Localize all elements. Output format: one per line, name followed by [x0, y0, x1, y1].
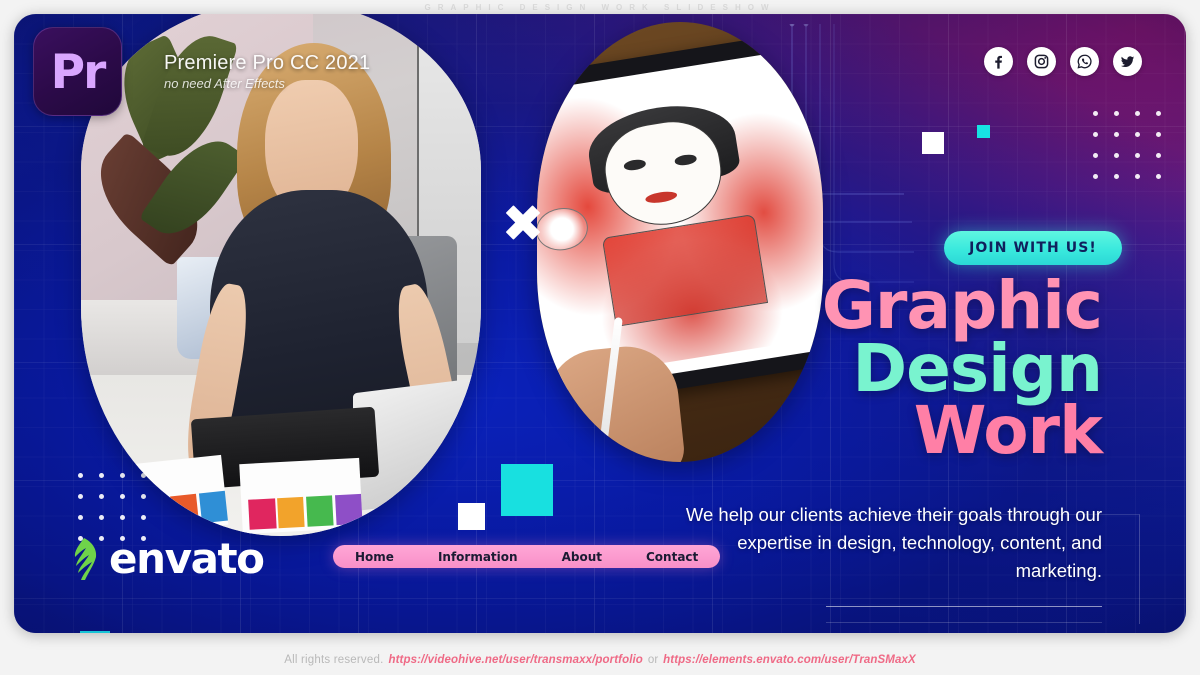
envato-leaf-icon	[66, 537, 102, 581]
underline-decoration-secondary	[826, 622, 1102, 623]
page-title: Graphic Design Work	[822, 276, 1102, 462]
cross-decoration-icon	[505, 204, 541, 240]
headline-line-3: Work	[822, 401, 1102, 462]
premiere-pro-subtitle: no need After Effects	[164, 76, 370, 91]
nav-item-contact[interactable]: Contact	[646, 550, 698, 564]
underline-decoration	[826, 606, 1102, 607]
whatsapp-icon[interactable]	[1070, 47, 1099, 76]
premiere-pro-caption: Premiere Pro CC 2021 no need After Effec…	[164, 52, 370, 91]
nav-item-about[interactable]: About	[562, 550, 602, 564]
photo-tablet-illustration	[537, 22, 823, 462]
square-decoration-cyan-top	[977, 125, 990, 138]
facebook-icon[interactable]	[984, 47, 1013, 76]
join-with-us-label: JOIN WITH US!	[969, 240, 1097, 256]
premiere-pro-badge-icon: Pr	[33, 27, 122, 116]
premiere-pro-title: Premiere Pro CC 2021	[164, 52, 370, 75]
square-decoration-white-top	[922, 132, 944, 154]
headline-line-1: Graphic	[822, 276, 1102, 337]
twitter-icon[interactable]	[1113, 47, 1142, 76]
description-paragraph: We help our clients achieve their goals …	[666, 501, 1102, 585]
headline-line-2: Design	[822, 339, 1102, 400]
instagram-icon[interactable]	[1027, 47, 1056, 76]
dot-grid-top-right	[1093, 111, 1161, 179]
square-decoration-cyan-bottom	[80, 631, 110, 633]
footer-link-elements[interactable]: https://elements.envato.com/user/TranSMa…	[663, 654, 916, 666]
nav-item-information[interactable]: Information	[438, 550, 518, 564]
join-with-us-button[interactable]: JOIN WITH US!	[944, 231, 1122, 265]
social-links	[984, 47, 1142, 76]
photo-designer-at-desk	[81, 14, 481, 536]
nav-item-home[interactable]: Home	[355, 550, 394, 564]
footer: All rights reserved. https://videohive.n…	[0, 654, 1200, 666]
navigation-bar: Home Information About Contact	[333, 545, 720, 568]
top-caption: GRAPHIC DESIGN WORK SLIDESHOW	[0, 0, 1200, 14]
envato-wordmark: envato	[109, 538, 264, 580]
square-decoration-cyan-mid	[501, 464, 553, 516]
premiere-pro-abbrev: Pr	[51, 49, 105, 96]
slideshow-preview: GRAPHIC DESIGN WORK SLIDESHOW	[0, 0, 1200, 675]
envato-logo: envato	[66, 537, 264, 581]
footer-prefix: All rights reserved.	[284, 654, 383, 666]
slide-canvas: Pr Premiere Pro CC 2021 no need After Ef…	[14, 14, 1186, 633]
footer-link-videohive[interactable]: https://videohive.net/user/transmaxx/por…	[388, 654, 642, 666]
footer-separator: or	[648, 654, 658, 666]
